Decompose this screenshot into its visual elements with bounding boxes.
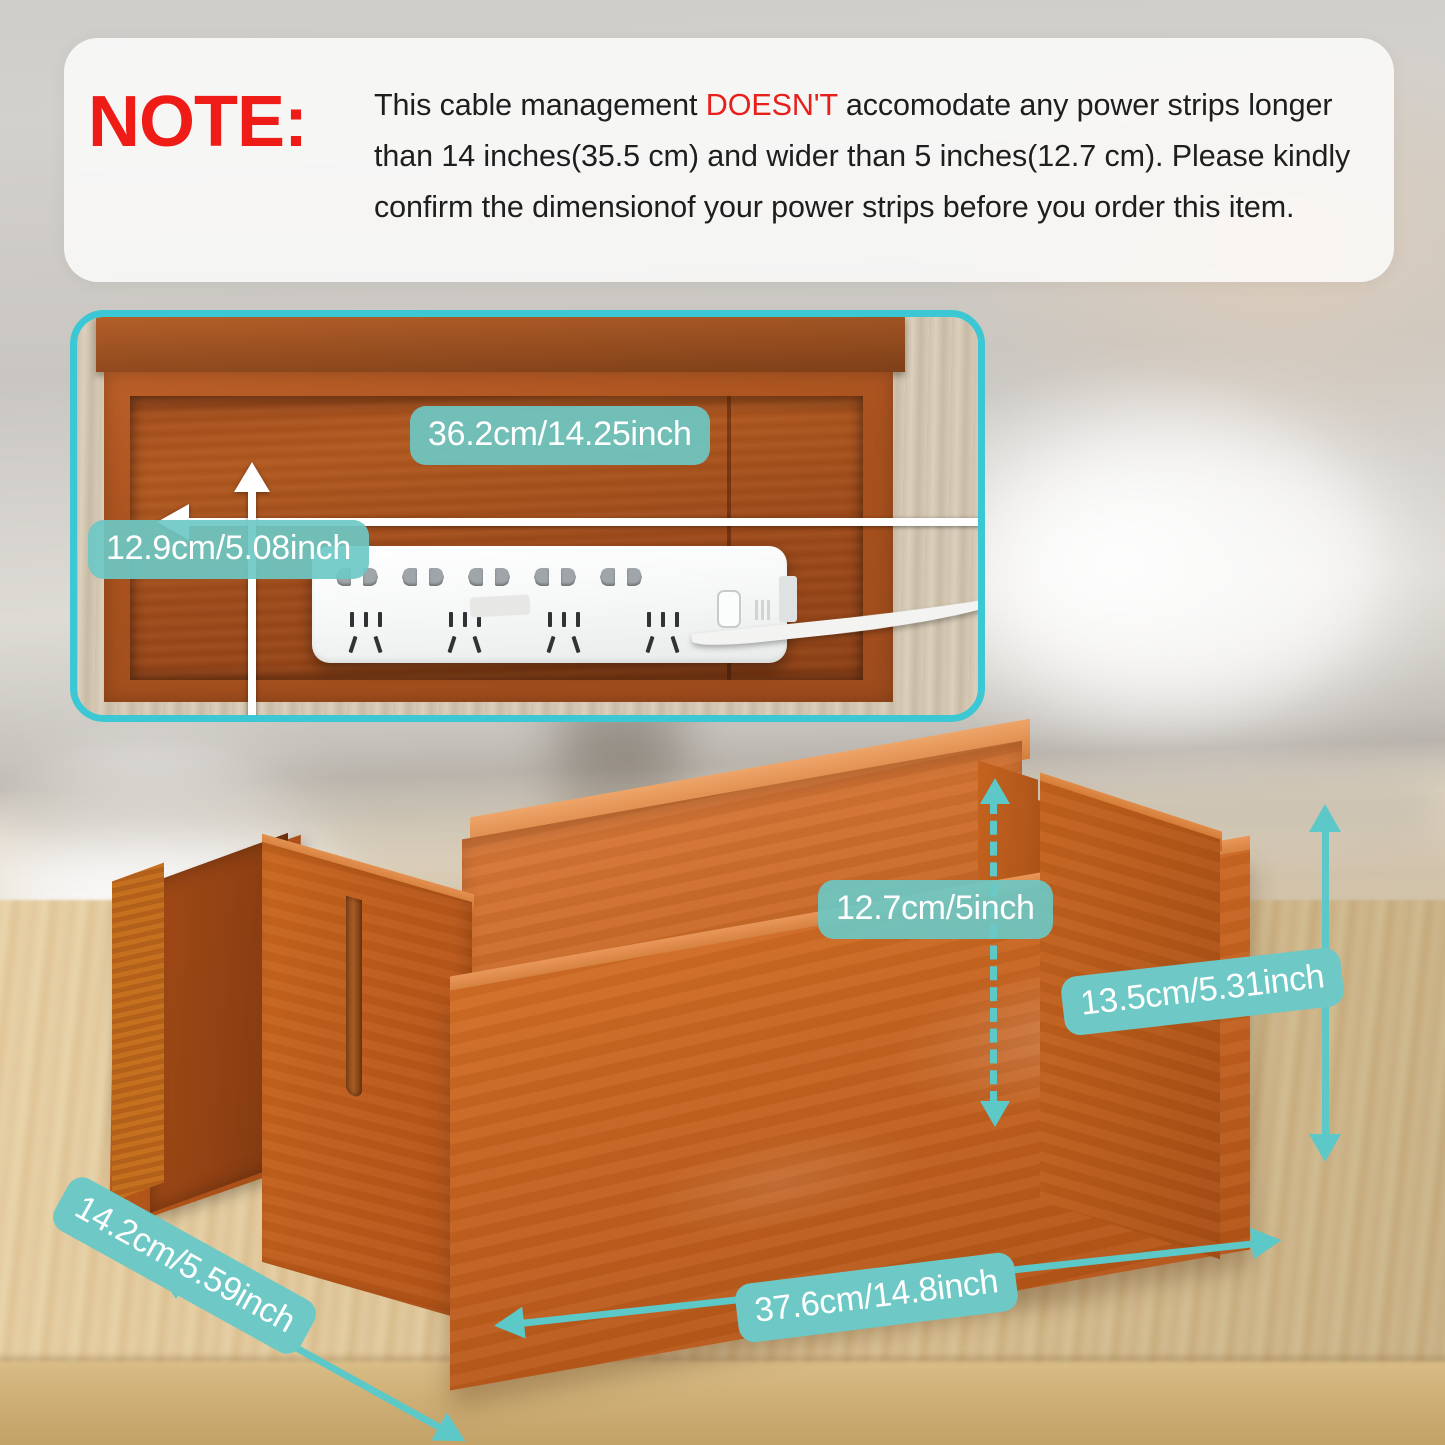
usb-port-pair-2 [402,568,444,586]
note-line1-pre: This cable management [374,88,706,122]
usb-icon-left-5 [600,568,615,586]
inset-width-label: 12.9cm/5.08inch [88,520,369,579]
usb-port-pair-3 [468,568,510,586]
ac-socket-2 [441,612,493,656]
usb-port-pair-4 [534,568,576,586]
ac-socket-4 [639,612,691,656]
inner-height-label: 12.7cm/5inch [818,880,1053,939]
inset-length-label: 36.2cm/14.25inch [410,406,710,465]
note-body: This cable management DOESN'T accomodate… [374,80,1384,233]
usb-icon-left-2 [402,568,417,586]
note-card: NOTE: This cable management DOESN'T acco… [64,38,1394,282]
cable-slot [346,896,362,1099]
usb-icon-right-5 [627,568,642,586]
inset-photo-content [70,310,985,722]
usb-icon-right-2 [429,568,444,586]
box-lid-edge [112,863,164,1202]
usb-icon-right-4 [561,568,576,586]
ac-socket-1 [342,612,394,656]
ac-socket-3 [540,612,592,656]
inset-box-outer-wood [78,314,985,722]
note-line4: order this item. [1094,190,1294,224]
power-cable-connector [470,594,531,617]
product-dimension-infographic: 12.7cm/5inch 13.5cm/5.31inch 37.6cm/14.8… [0,0,1445,1445]
note-line2: than 14 inches(35.5 cm) and wider than 5… [374,139,1163,173]
inset-box-lid [96,316,905,372]
usb-icon-left-3 [468,568,483,586]
box-left-panel [262,842,472,1322]
power-strip-socket-row [342,612,691,656]
note-title: NOTE: [88,86,307,158]
note-line1-post: accomodate any power strips longer [837,88,1332,122]
usb-icon-right-3 [495,568,510,586]
usb-port-pair-5 [600,568,642,586]
power-strip-usb-row [336,568,656,586]
inner-height-arrow [990,800,997,1105]
inset-photo-top-view [70,310,985,722]
note-line1-highlight: DOESN'T [706,88,838,122]
usb-icon-left-4 [534,568,549,586]
power-strip [312,546,787,663]
